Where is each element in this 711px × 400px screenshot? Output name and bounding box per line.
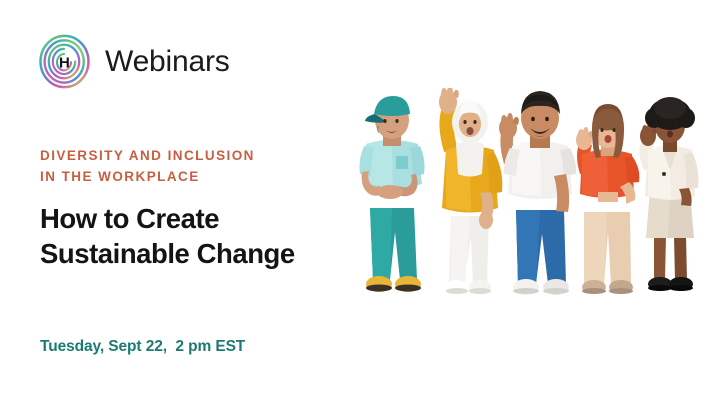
headline-line-1: How to Create: [40, 201, 295, 236]
spiral-h-logo-icon: H: [38, 34, 91, 89]
event-datetime: Tuesday, Sept 22, 2 pm EST: [40, 338, 245, 356]
brand-lockup: H Webinars: [38, 34, 230, 89]
figure-woman-in-hijab: [439, 88, 502, 294]
brand-name: Webinars: [105, 47, 230, 77]
eyebrow-line-2: IN THE WORKPLACE: [40, 167, 255, 188]
eyebrow-line-1: DIVERSITY AND INCLUSION: [40, 146, 255, 167]
five-diverse-people-waving-illustration: [352, 88, 700, 318]
figure-man-in-teal-cap: [360, 96, 425, 292]
figure-woman-in-orange-top: [576, 104, 639, 294]
headline-line-2: Sustainable Change: [40, 236, 295, 271]
figure-man-in-white-tee: [499, 91, 576, 295]
eyebrow-category: DIVERSITY AND INCLUSION IN THE WORKPLACE: [40, 146, 255, 188]
svg-text:H: H: [59, 55, 70, 72]
page-title: How to Create Sustainable Change: [40, 201, 295, 271]
figure-woman-in-cream-suit: [639, 97, 698, 291]
webinar-promo-banner: H Webinars DIVERSITY AND INCLUSION IN TH…: [0, 0, 711, 400]
